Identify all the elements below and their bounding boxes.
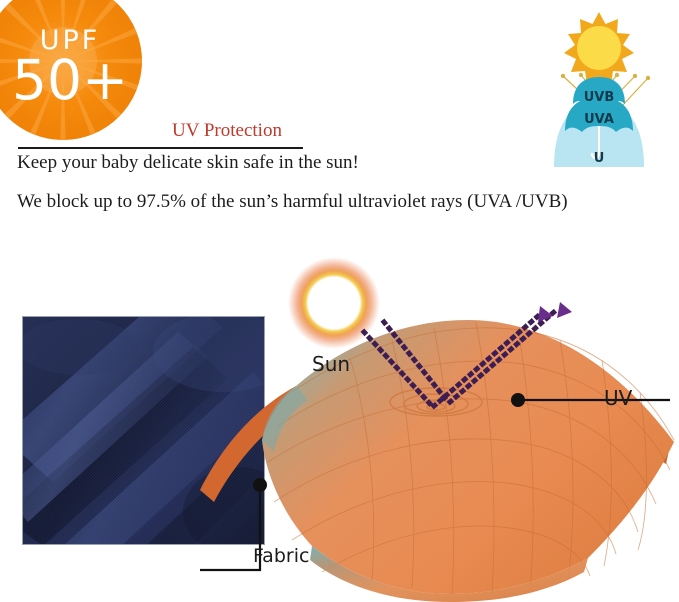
- title-divider: [18, 147, 303, 149]
- sun-label: Sun: [312, 352, 350, 376]
- body-line-1: Keep your baby delicate skin safe in the…: [17, 152, 359, 174]
- page-title: UV Protection: [172, 120, 282, 142]
- sun-icon: [288, 257, 380, 349]
- sun-star-icon: [564, 12, 634, 84]
- upf-badge: UPF 50+: [0, 0, 142, 140]
- uv-label: UV: [604, 386, 632, 410]
- fabric-label: Fabric: [253, 545, 309, 567]
- sunburst-rays-icon: [0, 0, 142, 140]
- u-label: U: [594, 151, 605, 166]
- uvb-label: UVB: [584, 90, 615, 105]
- uva-label: UVA: [584, 112, 614, 127]
- body-line-2: We block up to 97.5% of the sun’s harmfu…: [17, 191, 568, 213]
- fabric-callout-line: [200, 485, 260, 570]
- uv-umbrella-figure: UVB UVA U: [524, 2, 674, 167]
